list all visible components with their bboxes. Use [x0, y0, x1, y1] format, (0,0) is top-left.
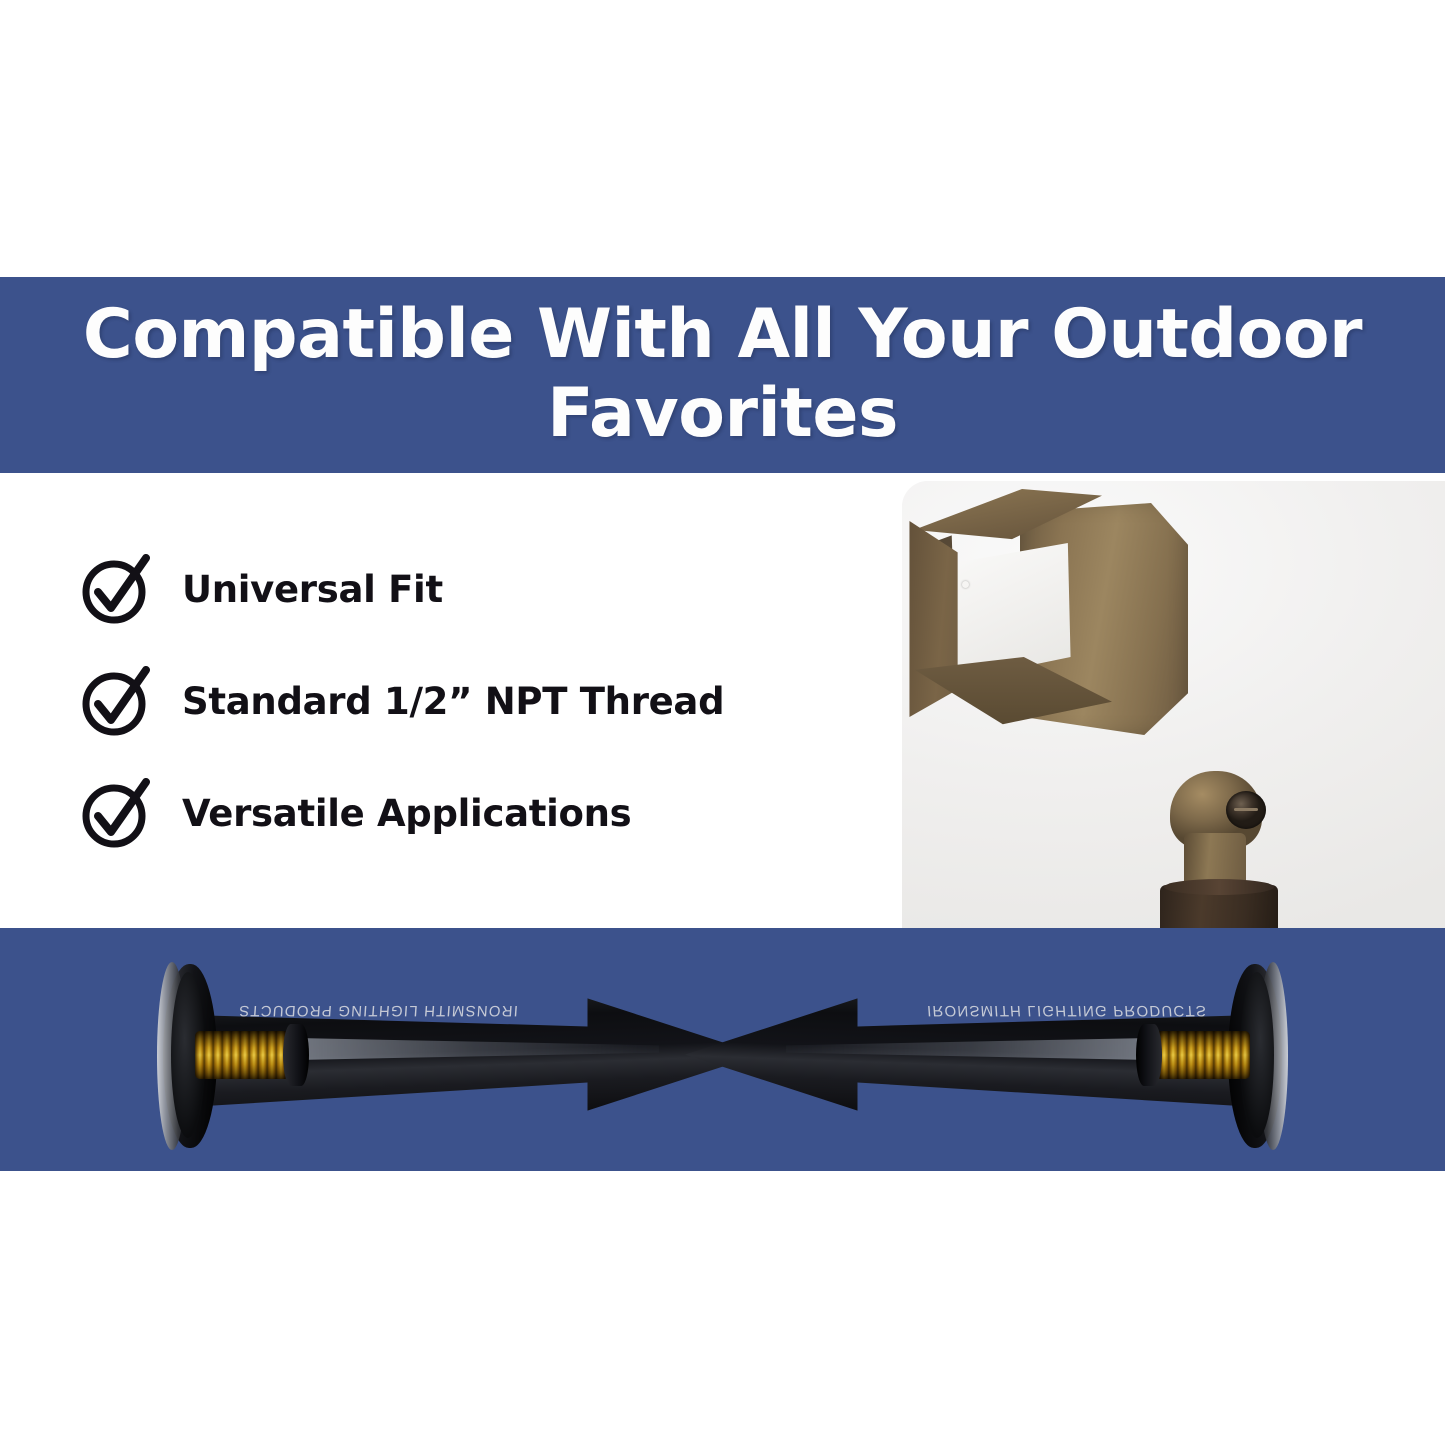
headline-line-2: Favorites — [547, 374, 898, 453]
feature-list: Universal Fit Standard 1/2” NPT Thread — [78, 533, 868, 869]
headline-line-1: Compatible With All Your Outdoor — [83, 295, 1362, 374]
fixture-lens-screw — [962, 581, 969, 588]
top-whitespace — [0, 0, 1445, 277]
stake-thread-collar — [283, 1024, 309, 1086]
product-photo-panel — [902, 481, 1445, 928]
stake-thread-collar — [1136, 1024, 1162, 1086]
feature-label: Standard 1/2” NPT Thread — [182, 680, 724, 723]
check-circle-icon — [78, 664, 152, 738]
ground-stake-left: IRONSMITH LIGHTING PRODUCTS — [155, 962, 755, 1152]
bottom-whitespace — [0, 1171, 1445, 1445]
stake-brand-text: IRONSMITH LIGHTING PRODUCTS — [212, 1002, 543, 1019]
ground-stake-right: IRONSMITH LIGHTING PRODUCTS — [690, 962, 1290, 1152]
page-title: Compatible With All Your Outdoor Favorit… — [73, 296, 1373, 454]
feature-label: Universal Fit — [182, 568, 443, 611]
list-item: Universal Fit — [78, 533, 868, 645]
check-circle-icon — [78, 552, 152, 626]
ground-stake-banner: IRONSMITH LIGHTING PRODUCTS IRONSMITH LI… — [0, 928, 1445, 1171]
stake-brass-thread — [1155, 1031, 1250, 1079]
list-item: Versatile Applications — [78, 757, 868, 869]
marketing-banner-page: Compatible With All Your Outdoor Favorit… — [0, 0, 1445, 1445]
stake-brand-text: IRONSMITH LIGHTING PRODUCTS — [901, 1002, 1232, 1019]
list-item: Standard 1/2” NPT Thread — [78, 645, 868, 757]
fixture-base-collar — [1160, 885, 1278, 928]
brass-flood-light-illustration — [902, 481, 1445, 928]
feature-label: Versatile Applications — [182, 792, 631, 835]
flood-light-fixture-photo — [902, 481, 1445, 928]
fixture-pivot-bolt — [1226, 791, 1266, 829]
stake-brass-thread — [195, 1031, 290, 1079]
check-circle-icon — [78, 776, 152, 850]
headline-banner: Compatible With All Your Outdoor Favorit… — [0, 277, 1445, 473]
